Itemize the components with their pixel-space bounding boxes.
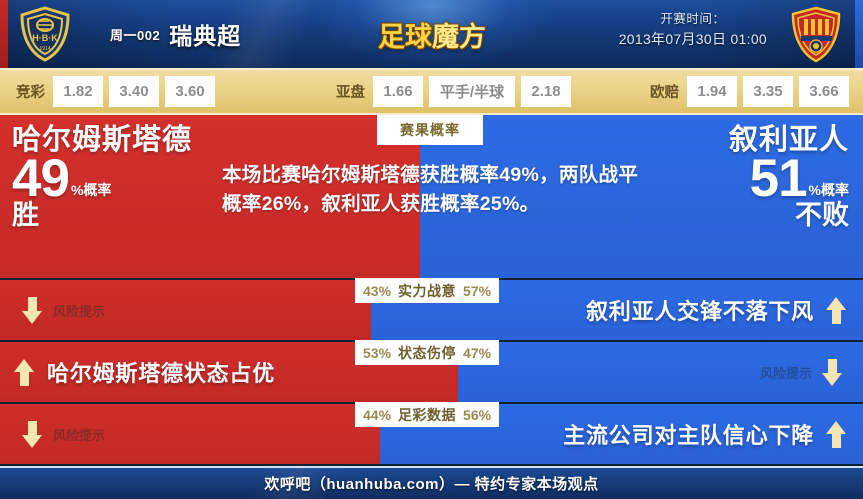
odds-group-yapan: 亚盘 1.66 平手/半球 2.18: [336, 76, 571, 107]
comparison-left-percent: 44%: [363, 407, 391, 423]
odds-group-label: 竞彩: [16, 81, 45, 102]
risk-tip: 风险提示: [22, 404, 105, 464]
odds-group-oupei: 欧赔 1.94 3.35 3.66: [650, 76, 849, 107]
comparison-left-percent: 43%: [363, 283, 391, 299]
comparison-row-label: 44% 足彩数据 56%: [355, 402, 499, 427]
brand-logo-text: 足球魔方: [378, 15, 486, 54]
header-bar: H·B·K 1914 周一002 瑞典超: [0, 0, 863, 68]
arrow-down-icon: [22, 421, 43, 448]
header-left-accent: [0, 0, 8, 68]
home-team-crest-icon: H·B·K 1914: [16, 5, 74, 63]
comparison-headline-text: 哈尔姆斯塔德状态占优: [47, 356, 275, 388]
match-number: 周一002: [110, 25, 160, 44]
comparison-row: 44% 足彩数据 56% 风险提示 主流公司对主队信心下降: [0, 404, 863, 464]
comparison-row: 53% 状态伤停 47% 哈尔姆斯塔德状态占优 风险提示: [0, 342, 863, 402]
arrow-up-icon: [826, 297, 847, 324]
home-probability-row: 49 %概率: [12, 154, 192, 204]
comparison-headline-text: 主流公司对主队信心下降: [563, 418, 814, 450]
match-preview-infographic: H·B·K 1914 周一002 瑞典超: [0, 0, 863, 499]
result-probability-badge: 赛果概率: [377, 115, 483, 145]
away-probability-value: 51: [750, 154, 807, 204]
odds-group-label: 欧赔: [650, 81, 679, 102]
svg-text:1914: 1914: [39, 46, 50, 52]
risk-tip-label: 风险提示: [53, 301, 105, 320]
comparison-left-percent: 53%: [363, 345, 391, 361]
risk-tip: 风险提示: [22, 280, 105, 340]
comparison-right-percent: 57%: [463, 283, 491, 299]
brand-logo[interactable]: 足球魔方: [362, 6, 502, 62]
risk-tip-label: 风险提示: [53, 425, 105, 444]
odds-cell[interactable]: 3.35: [743, 76, 793, 107]
comparison-row: 43% 实力战意 57% 风险提示 叙利亚人交锋不落下风: [0, 280, 863, 340]
comparison-headline-text: 叙利亚人交锋不落下风: [586, 294, 814, 326]
league-name: 瑞典超: [169, 17, 241, 51]
odds-cell[interactable]: 3.66: [799, 76, 849, 107]
probability-summary-text: 本场比赛哈尔姆斯塔德获胜概率49%，两队战平概率26%，叙利亚人获胜概率25%。: [222, 161, 642, 219]
svg-text:H·B·K: H·B·K: [32, 33, 58, 43]
home-probability-suffix: %概率: [71, 183, 111, 205]
header-right-accent: [855, 0, 863, 68]
odds-cell[interactable]: 1.82: [53, 76, 103, 107]
odds-cell[interactable]: 2.18: [521, 76, 571, 107]
comparison-right-percent: 47%: [463, 345, 491, 361]
away-team-block: 叙利亚人 51 %概率 不败: [729, 125, 849, 229]
arrow-down-icon: [822, 359, 843, 386]
footer-credit-text: 欢呼吧（huanhuba.com）— 特约专家本场观点: [264, 473, 598, 494]
result-probability-badge-label: 赛果概率: [400, 120, 460, 140]
away-probability-row: 51 %概率: [729, 154, 849, 204]
odds-cell[interactable]: 3.40: [109, 76, 159, 107]
comparison-headline: 哈尔姆斯塔德状态占优: [14, 342, 275, 402]
arrow-down-icon: [22, 297, 43, 324]
comparison-headline: 叙利亚人交锋不落下风: [586, 280, 847, 340]
odds-group-jingcai: 竞彩 1.82 3.40 3.60: [16, 76, 215, 107]
odds-cell[interactable]: 3.60: [165, 76, 215, 107]
home-team-block: 哈尔姆斯塔德 49 %概率 胜: [12, 125, 192, 229]
kickoff-time: 2013年07月30日 01:00: [619, 29, 767, 50]
arrow-up-icon: [826, 421, 847, 448]
away-team-crest-icon: [787, 5, 845, 63]
comparison-row-label: 43% 实力战意 57%: [355, 278, 499, 303]
kickoff-info: 开赛时间： 2013年07月30日 01:00: [619, 10, 767, 50]
comparison-rows: 43% 实力战意 57% 风险提示 叙利亚人交锋不落下风 53% 状态伤停 47…: [0, 280, 863, 464]
comparison-metric-name: 实力战意: [398, 281, 456, 301]
comparison-metric-name: 足彩数据: [398, 405, 456, 425]
risk-tip-label: 风险提示: [760, 363, 812, 382]
home-probability-value: 49: [12, 154, 69, 204]
odds-group-label: 亚盘: [336, 81, 365, 102]
footer-bar: 欢呼吧（huanhuba.com）— 特约专家本场观点: [0, 466, 863, 499]
risk-tip: 风险提示: [760, 342, 843, 402]
odds-bar: 竞彩 1.82 3.40 3.60 亚盘 1.66 平手/半球 2.18 欧赔 …: [0, 68, 863, 113]
comparison-row-label: 53% 状态伤停 47%: [355, 340, 499, 365]
odds-cell[interactable]: 1.94: [687, 76, 737, 107]
comparison-right-percent: 56%: [463, 407, 491, 423]
comparison-headline: 主流公司对主队信心下降: [563, 404, 847, 464]
comparison-metric-name: 状态伤停: [398, 343, 456, 363]
arrow-up-icon: [14, 359, 35, 386]
odds-cell-handicap[interactable]: 平手/半球: [429, 76, 515, 107]
match-title: 周一002 瑞典超: [110, 0, 241, 68]
kickoff-label: 开赛时间：: [619, 10, 767, 29]
odds-cell[interactable]: 1.66: [373, 76, 423, 107]
result-probability-panel: 哈尔姆斯塔德 49 %概率 胜 叙利亚人 51 %概率 不败 赛果概率 本场比赛…: [0, 113, 863, 278]
